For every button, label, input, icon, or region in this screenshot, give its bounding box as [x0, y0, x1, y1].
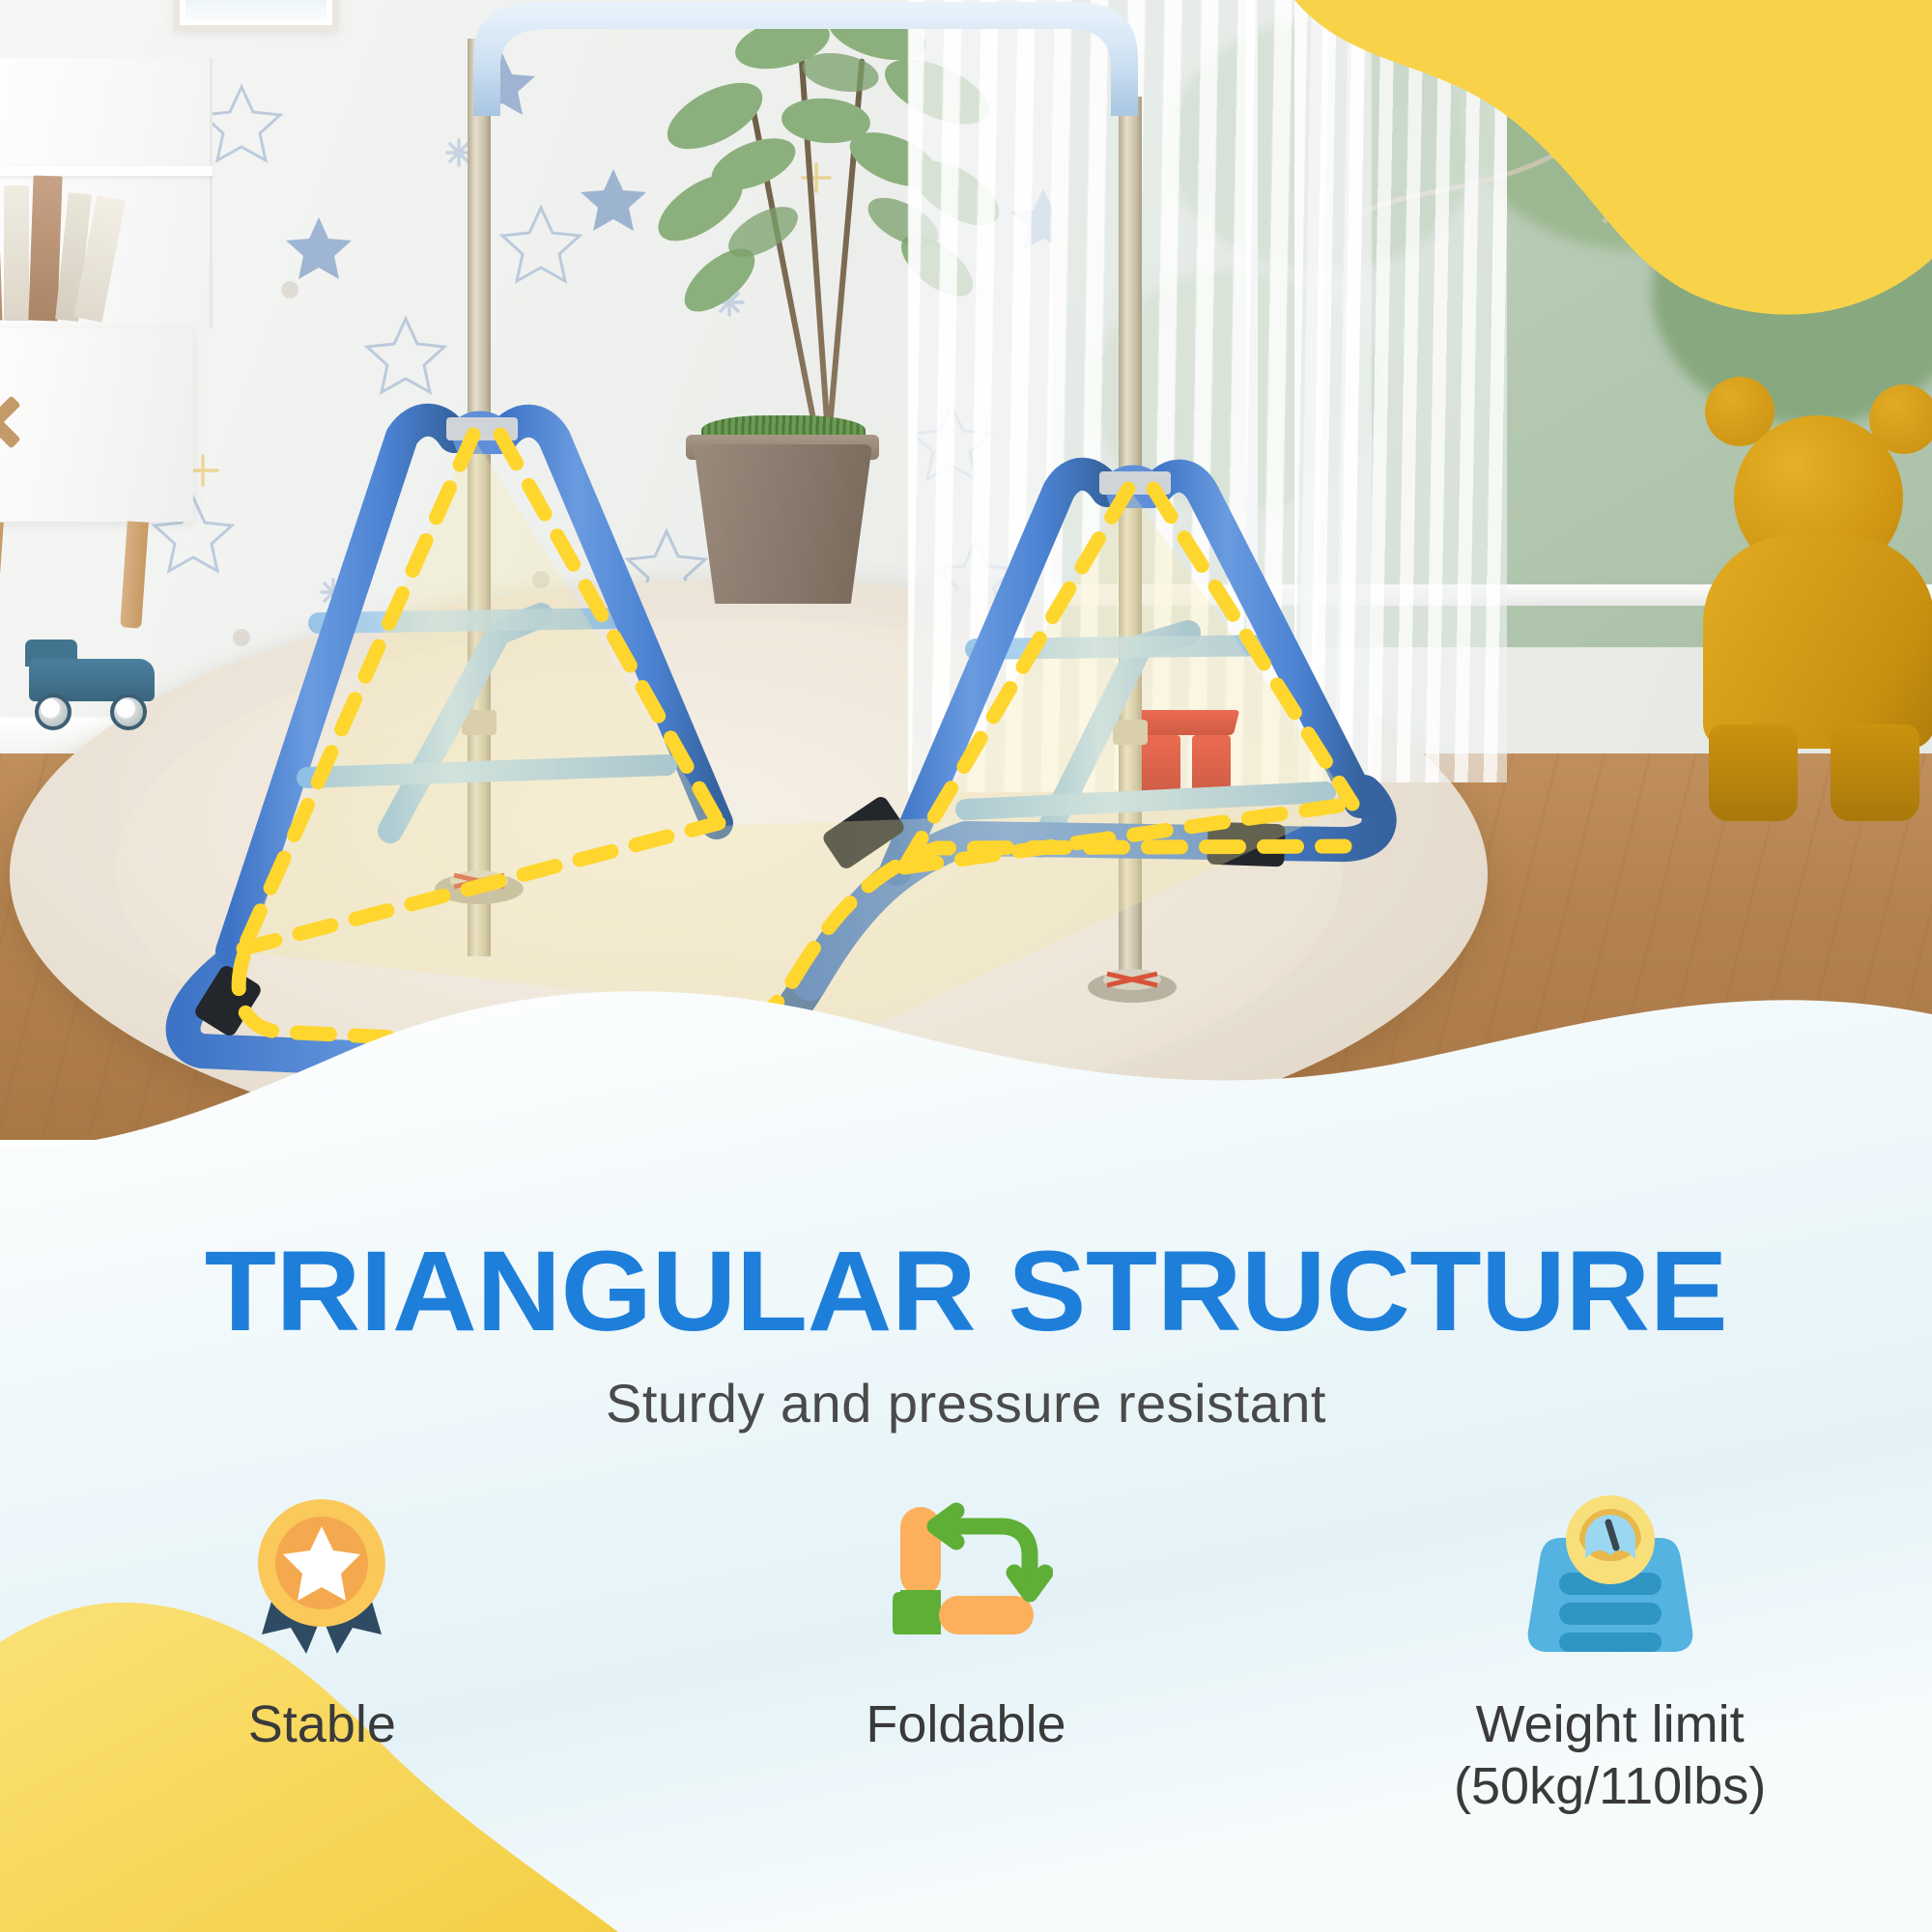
feature-label-stable: Stable: [248, 1694, 396, 1756]
feature-weight-limit: Weight limit (50kg/110lbs): [1340, 1488, 1881, 1817]
product-photo-scene: [0, 0, 1932, 1140]
feature-label-foldable: Foldable: [866, 1694, 1065, 1756]
award-badge-icon: [235, 1488, 409, 1662]
weight-scale-icon: [1519, 1488, 1702, 1662]
feature-stable: Stable: [51, 1488, 592, 1756]
product-marketing-image: TRIANGULAR STRUCTURE Sturdy and pressure…: [0, 0, 1932, 1932]
feature-foldable: Foldable: [696, 1488, 1236, 1756]
highlight-planes: [241, 435, 1352, 1024]
fold-arrow-icon: [879, 1488, 1053, 1662]
page-title: TRIANGULAR STRUCTURE: [0, 1235, 1932, 1349]
feature-label-weight: Weight limit (50kg/110lbs): [1454, 1694, 1766, 1817]
gymnastics-bar-product: [0, 0, 1932, 1140]
horizontal-bar: [473, 2, 1138, 116]
feature-row: Stable Foldabl: [0, 1488, 1932, 1893]
page-subtitle: Sturdy and pressure resistant: [0, 1372, 1932, 1435]
